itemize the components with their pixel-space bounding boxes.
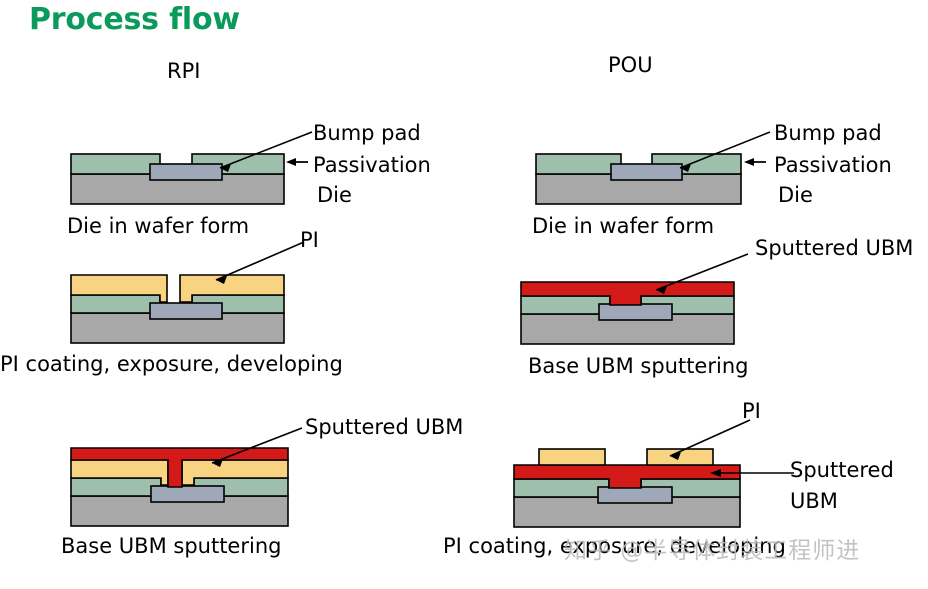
layer-bump-pad [151, 486, 224, 502]
pou-step-1-caption: Die in wafer form [532, 214, 714, 238]
layer-passivation-left [71, 154, 160, 174]
passivation-arrowhead [286, 158, 296, 166]
pi-leader-line [216, 242, 304, 280]
rpi-step-3-leaders [196, 423, 316, 469]
page-title: Process flow [29, 2, 240, 37]
ubm-leader-line [656, 254, 748, 290]
rpi-step-1-caption: Die in wafer form [67, 214, 249, 238]
pou-sputtered-ubm-label: Sputtered UBM [755, 237, 913, 261]
layer-passivation-left [71, 295, 160, 313]
rpi-passivation-label: Passivation [313, 154, 431, 178]
pou-step-2-caption: Base UBM sputtering [528, 354, 748, 378]
pi-leader-line [670, 420, 750, 456]
layer-passivation-left [514, 479, 609, 497]
layer-pi-island-left [539, 449, 605, 465]
layer-passivation-left [71, 478, 161, 496]
pou-step-2-leaders [640, 250, 760, 296]
pou-sputtered-ubm-label-line2: UBM [790, 490, 838, 514]
pou-step-3-ubm-leader [694, 462, 798, 488]
passivation-arrowhead [744, 158, 754, 166]
pou-bump-pad-label: Bump pad [774, 122, 882, 146]
layer-bump-pad [599, 304, 672, 320]
layer-passivation-left [536, 154, 621, 174]
rpi-step-2-caption: PI coating, exposure, developing [0, 352, 343, 376]
ubm-leader-line [212, 428, 302, 463]
column-header-rpi: RPI [167, 59, 200, 83]
rpi-sputtered-ubm-label: Sputtered UBM [305, 416, 463, 440]
layer-passivation-left [521, 296, 610, 314]
ubm-arrowhead [710, 469, 721, 477]
pou-step-1-leaders [660, 126, 790, 186]
pou-pi-label: PI [742, 400, 761, 424]
pou-die-label: Die [778, 184, 813, 208]
rpi-step-1-leaders [200, 126, 330, 186]
pou-passivation-label: Passivation [774, 154, 892, 178]
rpi-step-3-caption: Base UBM sputtering [61, 534, 281, 558]
pou-step-3-caption: PI coating, exposure, developing [443, 534, 786, 558]
pou-sputtered-ubm-label-line1: Sputtered [790, 459, 894, 483]
column-header-pou: POU [608, 53, 653, 77]
layer-bump-pad [598, 487, 672, 503]
rpi-die-label: Die [317, 184, 352, 208]
layer-bump-pad [150, 303, 222, 319]
rpi-bump-pad-label: Bump pad [313, 122, 421, 146]
rpi-pi-label: PI [300, 229, 319, 253]
slide-canvas: Process flow RPI POU Bump pad Passivatio… [0, 0, 928, 589]
